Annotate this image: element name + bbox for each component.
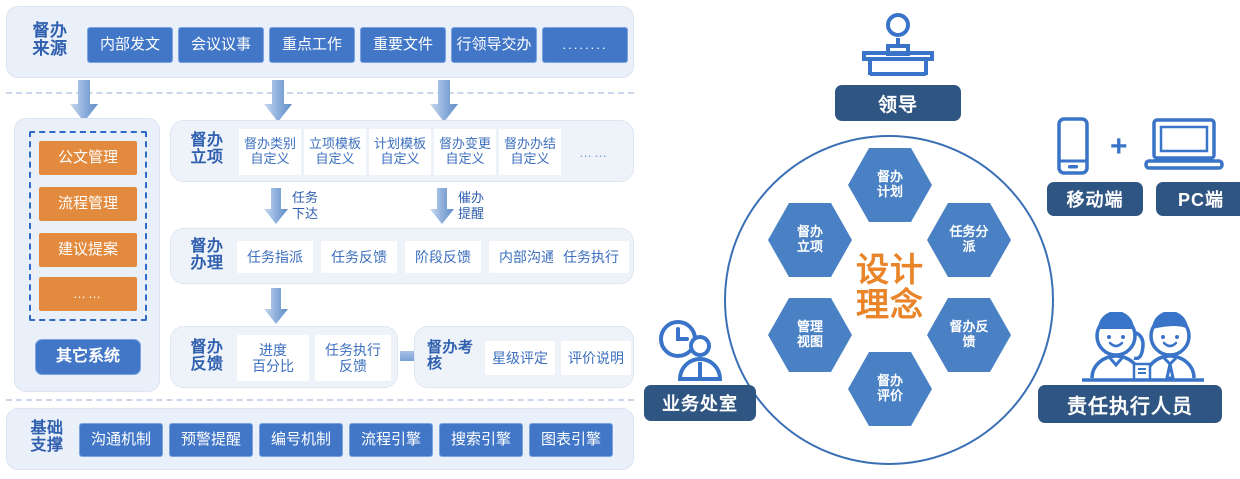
lixiang-item-0[interactable]: 督办类别自定义	[239, 129, 301, 175]
foundation-item-4[interactable]: 搜索引擎	[439, 423, 523, 457]
lixiang-item-2[interactable]: 计划模板自定义	[369, 129, 431, 175]
foundation-row-label: 基础 支撑	[21, 421, 73, 455]
connector-label-right: 催办 提醒	[458, 190, 484, 221]
connector-label-left: 任务 下达	[292, 190, 318, 221]
two-people-icon	[1072, 312, 1212, 389]
plus-sign: +	[1110, 132, 1128, 162]
foundation-row-panel: 基础 支撑 沟通机制 预警提醒 编号机制 流程引擎 搜索引擎 图表引擎	[6, 408, 634, 470]
right-concept-diagram: 领导 督办计划 任务分派 督办反馈 督办评价 管理视图 督办立项 设计 理念	[620, 0, 1240, 479]
arrow-task-dispatch	[264, 188, 288, 224]
arrow-down-to-fankui	[264, 288, 288, 324]
stage-banli: 督办 办理 任务指派 任务反馈 阶段反馈 内部沟通 任务执行	[170, 228, 634, 284]
foundation-item-5[interactable]: 图表引擎	[529, 423, 613, 457]
arrow-down-to-lixiang-1	[264, 80, 292, 122]
diagram-canvas: 督办 来源 内部发文 会议议事 重点工作 重要文件 行领导交办 ........	[0, 0, 1240, 479]
source-row-panel: 督办 来源 内部发文 会议议事 重点工作 重要文件 行领导交办 ........	[6, 6, 634, 78]
source-item-0[interactable]: 内部发文	[87, 27, 173, 63]
fankui-item-0[interactable]: 进度百分比	[237, 335, 309, 381]
actor-leader-pill[interactable]: 领导	[835, 85, 961, 121]
smartphone-icon	[1056, 116, 1090, 181]
lixiang-item-4[interactable]: 督办办结自定义	[499, 129, 561, 175]
banli-item-1[interactable]: 任务反馈	[321, 241, 397, 273]
stage-fankui: 督办 反馈 进度百分比 任务执行反馈	[170, 326, 398, 388]
foundation-item-0[interactable]: 沟通机制	[79, 423, 163, 457]
lixiang-item-3[interactable]: 督办变更自定义	[434, 129, 496, 175]
left-flow-diagram: 督办 来源 内部发文 会议议事 重点工作 重要文件 行领导交办 ........	[0, 0, 640, 479]
lixiang-more: ……	[569, 145, 619, 160]
stage-lixiang-label: 督办 立项	[183, 133, 231, 167]
actor-mobile-pill[interactable]: 移动端	[1047, 182, 1143, 216]
actor-office-pill[interactable]: 业务处室	[644, 385, 756, 421]
arrow-down-to-lixiang-2	[430, 80, 458, 122]
source-item-4[interactable]: 行领导交办	[451, 27, 537, 63]
source-item-2[interactable]: 重点工作	[269, 27, 355, 63]
external-item-2[interactable]: 建议提案	[39, 233, 137, 267]
arrow-urge-reminder	[430, 188, 454, 224]
section-divider-top	[6, 92, 634, 94]
banli-item-4[interactable]: 任务执行	[553, 241, 629, 273]
section-divider-bottom	[6, 399, 634, 401]
actor-executor-pill[interactable]: 责任执行人员	[1038, 385, 1222, 423]
source-item-5[interactable]: ........	[542, 27, 628, 63]
foundation-item-3[interactable]: 流程引擎	[349, 423, 433, 457]
stage-kaohe: 督办考 核 星级评定 评价说明	[414, 326, 634, 388]
lixiang-item-1[interactable]: 立项模板自定义	[304, 129, 366, 175]
fankui-item-1[interactable]: 任务执行反馈	[315, 335, 391, 381]
kaohe-item-0[interactable]: 星级评定	[485, 341, 555, 375]
core-line2: 理念	[848, 288, 932, 323]
source-row-label-line2: 来源	[21, 40, 79, 58]
core-line1: 设计	[848, 253, 932, 288]
stage-banli-label: 督办 办理	[183, 239, 231, 273]
clock-person-icon	[656, 320, 726, 387]
external-item-1[interactable]: 流程管理	[39, 187, 137, 221]
stage-fankui-label: 督办 反馈	[183, 340, 231, 374]
stage-lixiang: 督办 立项 督办类别自定义 立项模板自定义 计划模板自定义 督办变更自定义 督办…	[170, 120, 634, 182]
source-row-label: 督办 来源	[21, 22, 79, 58]
source-row-label-line1: 督办	[21, 22, 79, 40]
external-item-0[interactable]: 公文管理	[39, 141, 137, 175]
external-item-3[interactable]: ……	[39, 277, 137, 311]
source-item-1[interactable]: 会议议事	[178, 27, 264, 63]
external-systems-panel: 公文管理 流程管理 建议提案 …… 其它系统	[14, 118, 160, 392]
stage-kaohe-label: 督办考 核	[427, 340, 481, 372]
actor-pc-pill[interactable]: PC端	[1156, 182, 1240, 216]
source-item-3[interactable]: 重要文件	[360, 27, 446, 63]
banli-item-0[interactable]: 任务指派	[237, 241, 313, 273]
laptop-icon	[1144, 118, 1224, 179]
foundation-item-1[interactable]: 预警提醒	[169, 423, 253, 457]
external-other-systems-button[interactable]: 其它系统	[35, 339, 141, 375]
concept-core-text: 设计 理念	[848, 253, 932, 323]
banli-item-2[interactable]: 阶段反馈	[405, 241, 481, 273]
leader-desk-icon	[856, 12, 940, 83]
foundation-item-2[interactable]: 编号机制	[259, 423, 343, 457]
arrow-down-to-external	[70, 80, 98, 122]
